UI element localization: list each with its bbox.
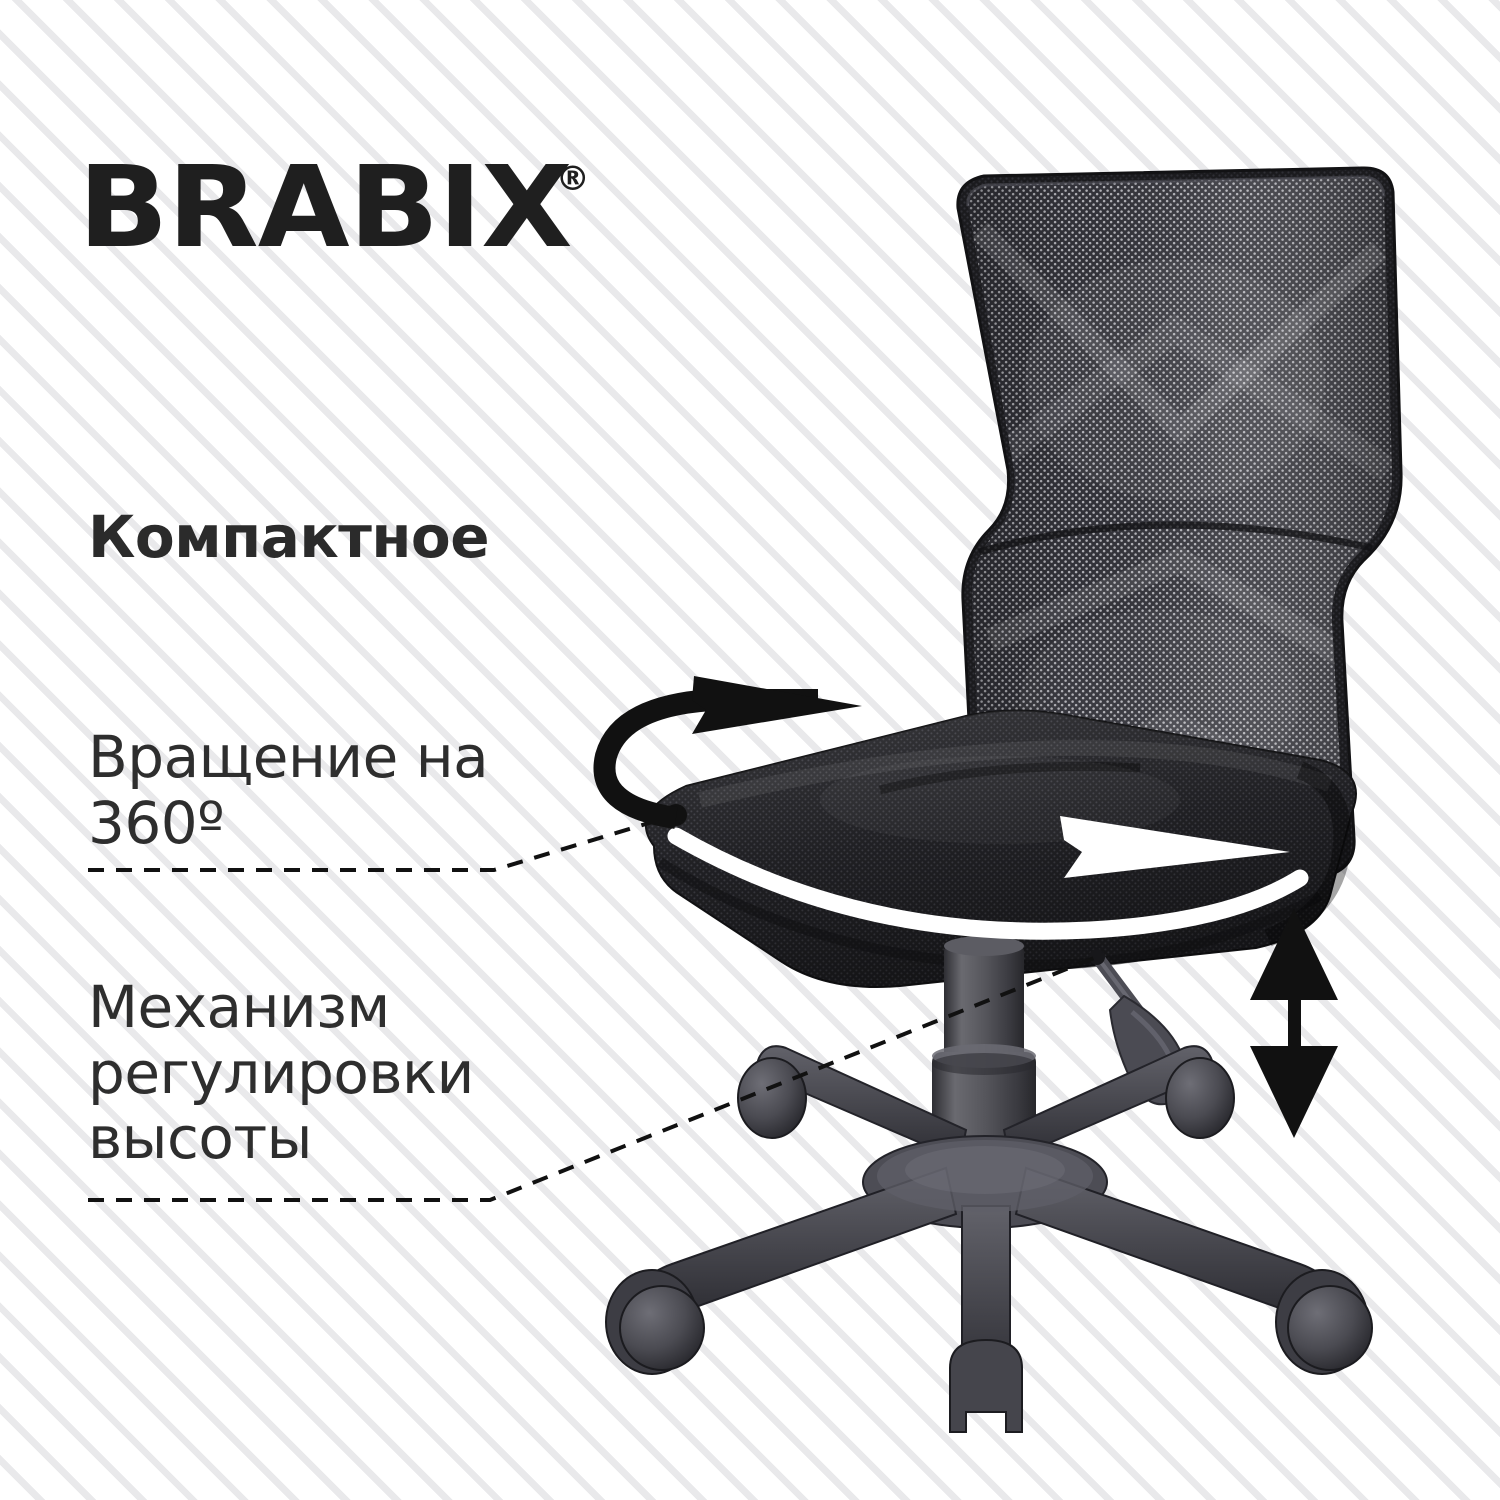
- product-infographic: BRABIX ® Компактное Вращение на 360º Мех…: [0, 0, 1500, 1500]
- office-chair-image: [0, 0, 1500, 1500]
